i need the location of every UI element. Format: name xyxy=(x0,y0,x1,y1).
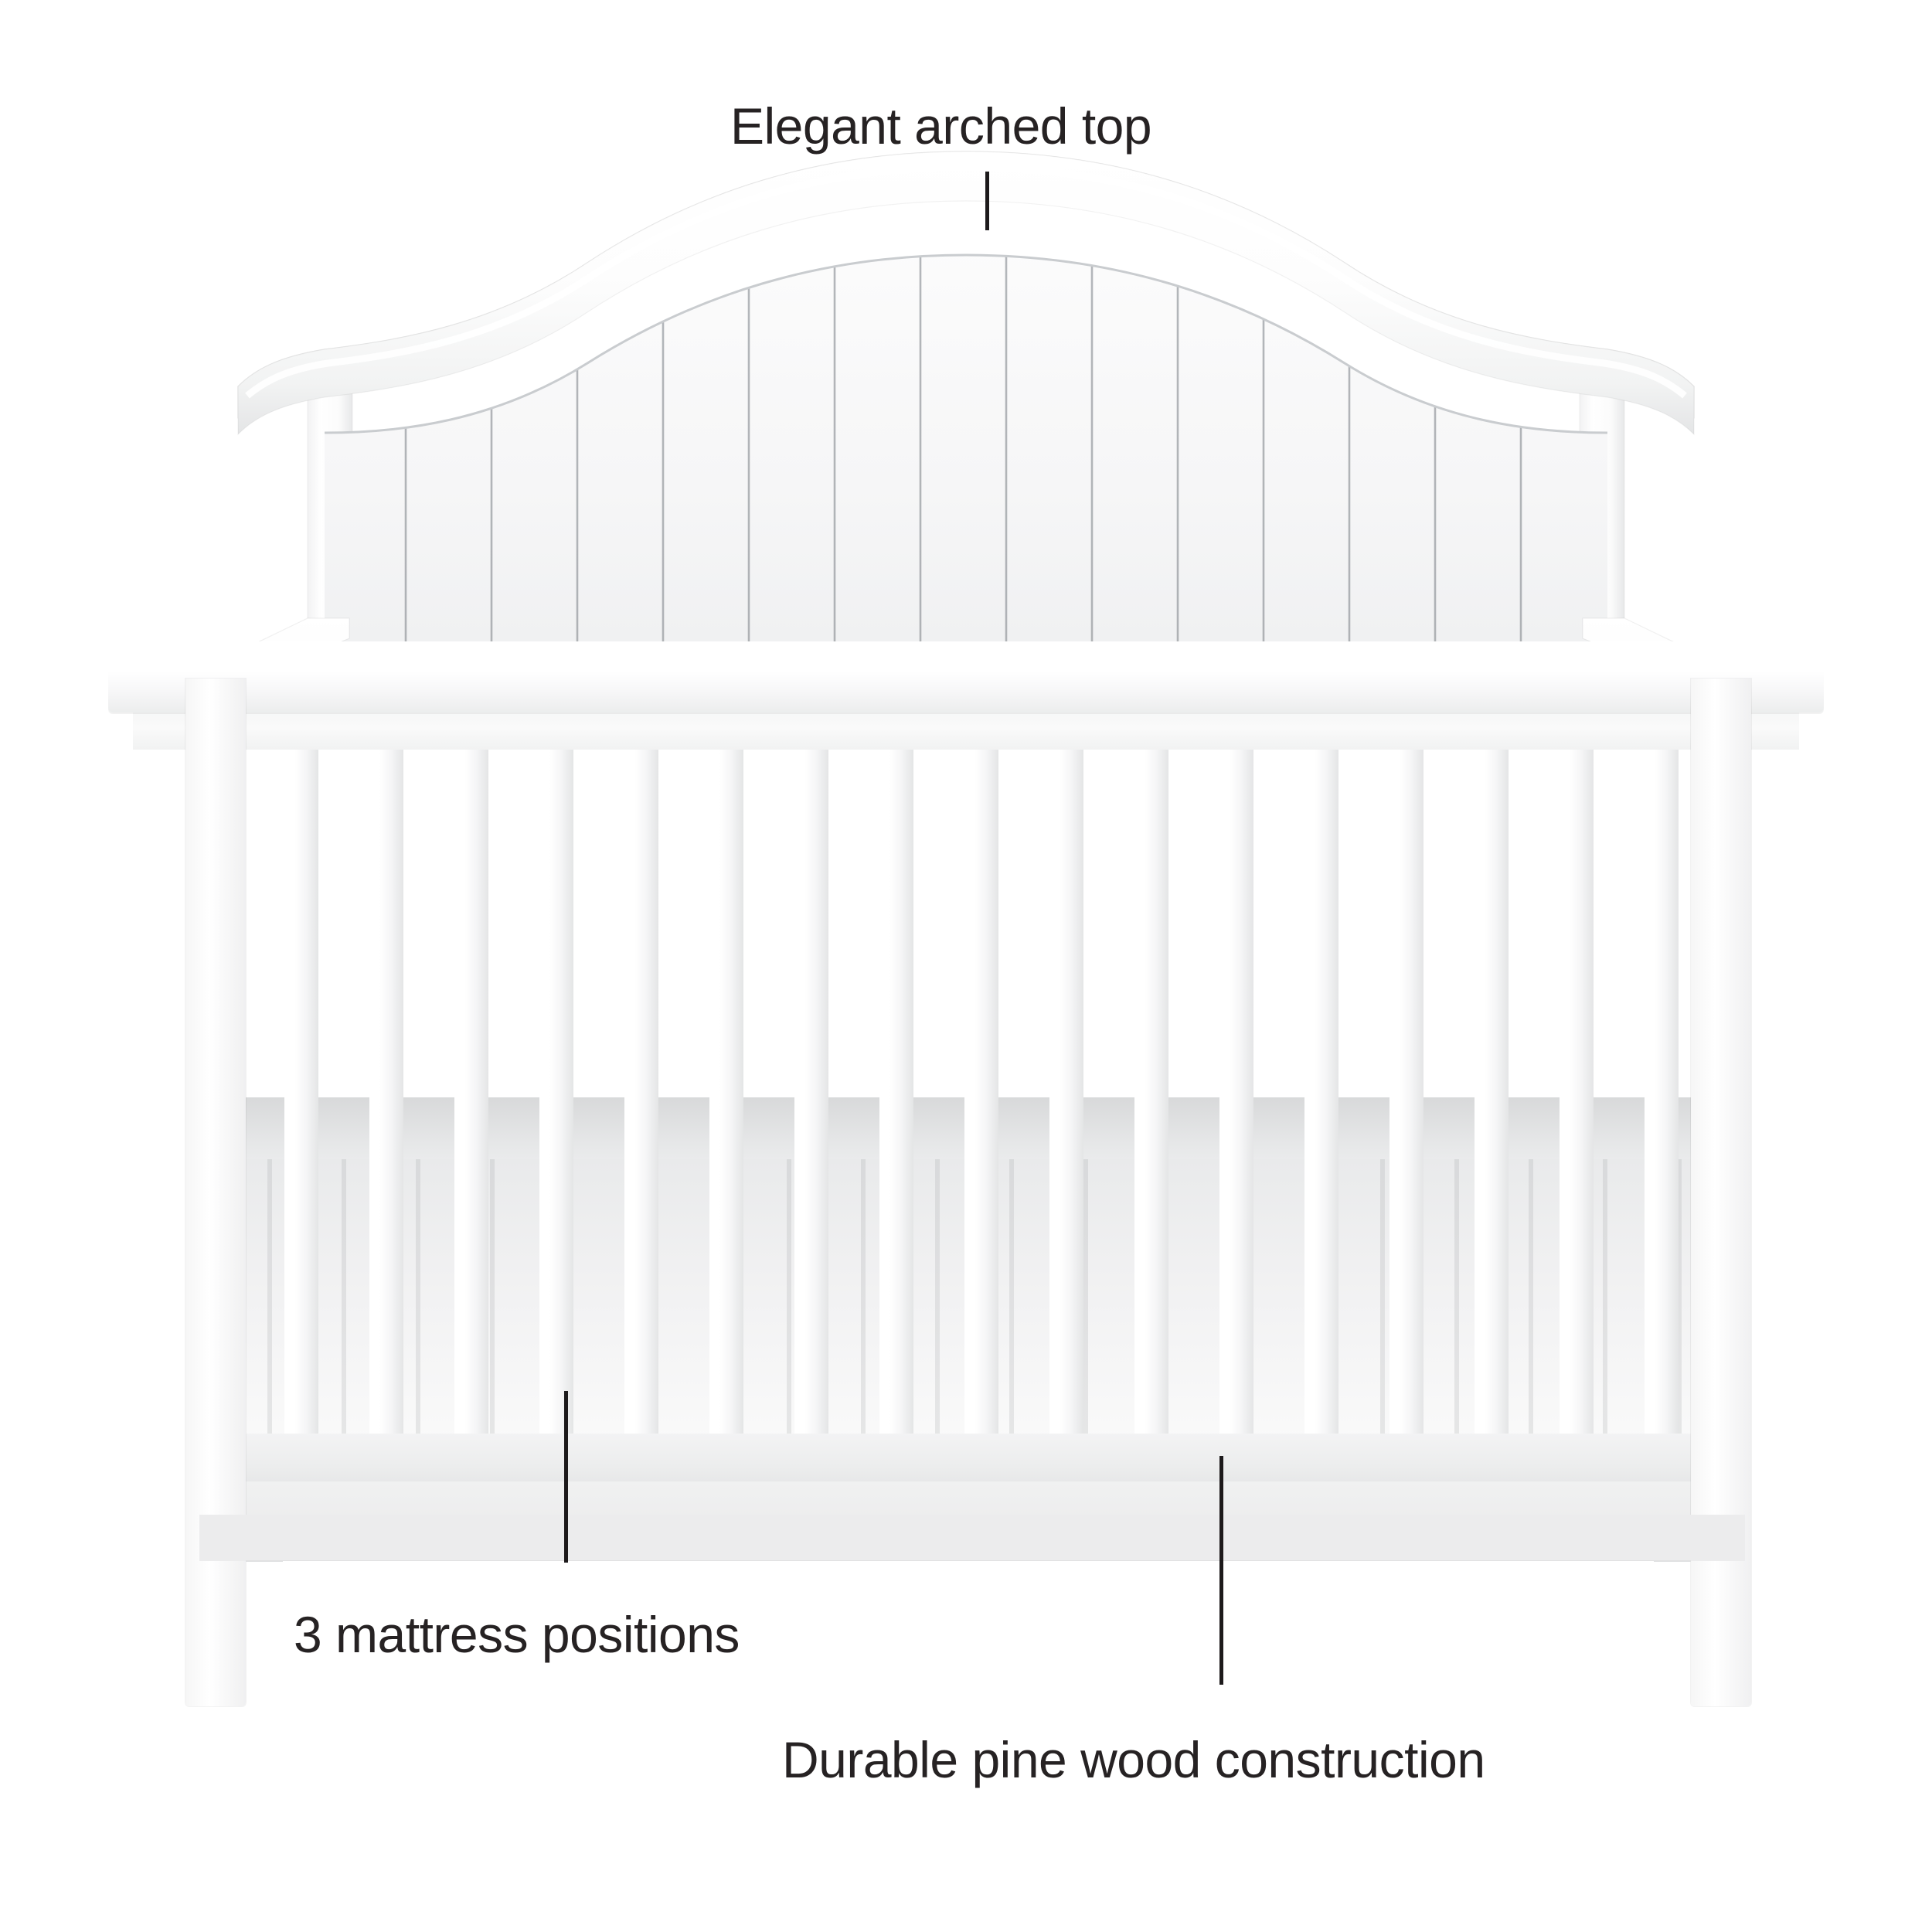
front-top-rail xyxy=(108,641,1824,713)
slat xyxy=(624,703,658,1437)
product-infographic: Elegant arched top 3 mattress positions … xyxy=(0,0,1932,1932)
slat xyxy=(794,703,828,1437)
slat xyxy=(1389,703,1423,1437)
slat xyxy=(1049,703,1083,1437)
callout-label-pine-construction: Durable pine wood construction xyxy=(782,1734,1485,1785)
callout-leader-mattress-positions xyxy=(564,1391,568,1563)
slat xyxy=(1645,703,1679,1437)
slat xyxy=(539,703,573,1437)
front-slats xyxy=(199,703,1737,1437)
slat xyxy=(369,703,403,1437)
slat xyxy=(879,703,913,1437)
base-rail-lower-bottom xyxy=(199,1515,1745,1561)
base-rail-upper xyxy=(199,1434,1745,1483)
slat xyxy=(964,703,998,1437)
callout-leader-arched-top xyxy=(985,172,989,230)
slat xyxy=(1134,703,1168,1437)
crib-illustration xyxy=(0,0,1932,1932)
headboard-panel xyxy=(309,232,1631,696)
callout-label-arched-top: Elegant arched top xyxy=(730,100,1151,151)
callout-label-mattress-positions: 3 mattress positions xyxy=(294,1609,740,1660)
slat xyxy=(1304,703,1338,1437)
slat xyxy=(454,703,488,1437)
slat xyxy=(1560,703,1594,1437)
slat xyxy=(709,703,743,1437)
base-rail-notches xyxy=(0,1515,1932,1708)
slat xyxy=(1475,703,1509,1437)
callout-leader-pine-construction xyxy=(1219,1456,1223,1685)
slat xyxy=(1219,703,1253,1437)
slat xyxy=(284,703,318,1437)
